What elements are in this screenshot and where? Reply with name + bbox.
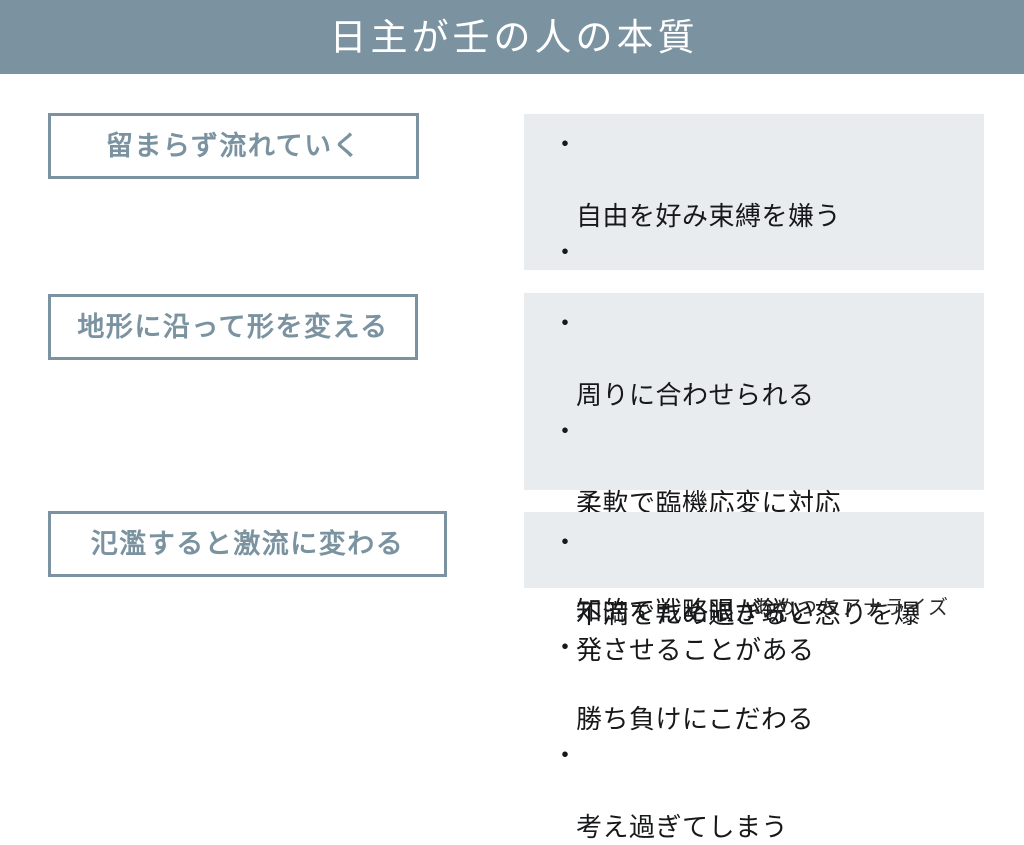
section-label-text-3: 氾濫すると激流に変わる <box>91 531 405 558</box>
bullet-panel-3: ・ 不満をため過ぎると怒りを爆 発させることがある <box>524 512 984 588</box>
list-item: ・ 考え過ぎてしまう <box>550 737 974 845</box>
bullet-panel-2: ・ 周りに合わせられる ・ 柔軟で臨機応変に対応 ・ 知的で戦略眼が鋭い ・ 勝… <box>524 293 984 490</box>
list-item: ・ 自由を好み束縛を嫌う <box>550 126 974 234</box>
bullet-panel-1: ・ 自由を好み束縛を嫌う ・ おおらかで楽観的 ・ 悠長さと性急さを併せ持つ ・… <box>524 114 984 270</box>
page-title: 日主が壬の人の本質 <box>326 19 699 56</box>
list-item-label: 自由を好み束縛を嫌う <box>576 201 841 231</box>
list-item: ・ 柔軟で臨機応変に対応 <box>550 413 974 521</box>
section-label-box-1: 留まらず流れていく <box>48 113 419 179</box>
bullet-list-3: ・ 不満をため過ぎると怒りを爆 発させることがある <box>550 524 974 668</box>
bullet-dot-icon: ・ <box>552 305 579 341</box>
bullet-dot-icon: ・ <box>552 234 579 270</box>
list-item-label: 勝ち負けにこだわる <box>576 704 814 734</box>
section-label-text-2: 地形に沿って形を変える <box>77 314 388 341</box>
bullet-dot-icon: ・ <box>552 737 579 773</box>
bullet-dot-icon: ・ <box>552 524 579 560</box>
slide-root: 日主が壬の人の本質 留まらず流れていく ・ 自由を好み束縛を嫌う ・ おおらかで… <box>0 0 1024 640</box>
section-label-box-3: 氾濫すると激流に変わる <box>48 511 447 577</box>
list-item-label: 考え過ぎてしまう <box>576 812 788 842</box>
list-item: ・ 不満をため過ぎると怒りを爆 発させることがある <box>550 524 974 668</box>
list-item: ・ 周りに合わせられる <box>550 305 974 413</box>
header-banner: 日主が壬の人の本質 <box>0 0 1024 74</box>
bullet-dot-icon: ・ <box>552 126 579 162</box>
bullet-dot-icon: ・ <box>552 413 579 449</box>
section-label-box-2: 地形に沿って形を変える <box>48 294 418 360</box>
list-item-label: 周りに合わせられる <box>576 380 815 410</box>
footer-credit: あめつちアナライズ <box>753 598 950 618</box>
section-label-text-1: 留まらず流れていく <box>106 133 361 160</box>
